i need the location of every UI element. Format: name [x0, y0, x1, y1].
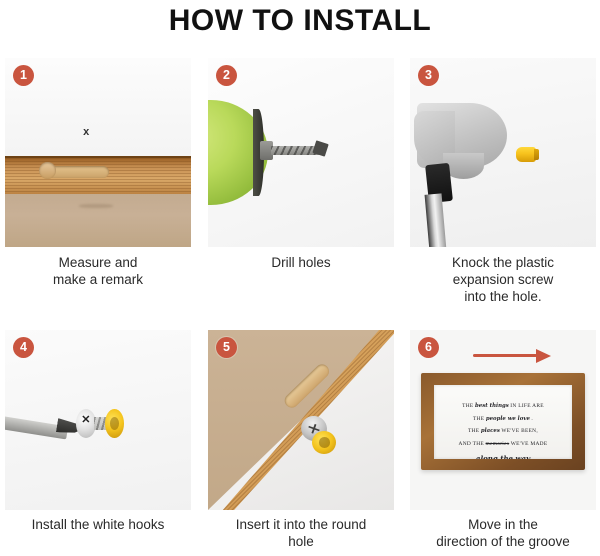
step-badge-5: 5: [216, 337, 237, 358]
step-caption-2: Drill holes: [208, 254, 394, 271]
caption-line: Drill holes: [208, 254, 394, 271]
page-title: HOW TO INSTALL: [0, 4, 600, 38]
sign-line-5: along the way: [434, 454, 571, 459]
keyhole-groove: [46, 166, 109, 178]
caption-line: into the hole.: [410, 288, 596, 305]
step-image-1: 1 x: [5, 58, 191, 247]
step-cell-6: 6 THE best things IN LIFE ARE THE: [410, 330, 596, 530]
step-caption-1: Measure and make a remark: [5, 254, 191, 288]
step-cell-3: 3 Knock the plastic expansion screw into…: [410, 58, 596, 288]
caption-line: hole: [208, 533, 394, 550]
step-image-2: 2: [208, 58, 394, 247]
direction-arrow-icon: [473, 348, 551, 362]
step-image-5: 5: [208, 330, 394, 510]
caption-line: Move in the: [410, 516, 596, 533]
step-cell-4: 4 ✕ Install the white hooks: [5, 330, 191, 530]
sign-text: best things: [475, 403, 509, 409]
arrow-line: [473, 354, 537, 357]
sign-text: along the way: [476, 454, 530, 459]
step-badge-4: 4: [13, 337, 34, 358]
cardboard-backing: [5, 194, 191, 247]
caption-line: Measure and: [5, 254, 191, 271]
sign-face: THE best things IN LIFE ARE THE people w…: [434, 385, 571, 459]
arrow-head: [536, 349, 551, 363]
sign-text: AND THE: [459, 441, 485, 447]
caption-line: expansion screw: [410, 271, 596, 288]
sign-line-2: THE people we love .: [434, 416, 571, 422]
how-to-install-infographic: HOW TO INSTALL 1 x Measure and make a re…: [0, 0, 600, 556]
phillips-cross-icon: ✕: [80, 416, 91, 432]
steps-grid: 1 x Measure and make a remark 2: [0, 58, 600, 528]
caption-line: Insert it into the round: [208, 516, 394, 533]
plastic-expansion-anchor-icon: [516, 147, 536, 162]
sign-text: people we love: [486, 416, 530, 422]
caption-line: make a remark: [5, 271, 191, 288]
caption-line: Install the white hooks: [5, 516, 191, 533]
step-caption-4: Install the white hooks: [5, 516, 191, 533]
step-cell-1: 1 x Measure and make a remark: [5, 58, 191, 288]
step-badge-6: 6: [418, 337, 439, 358]
step-caption-5: Insert it into the round hole: [208, 516, 394, 550]
sign-text: THE: [473, 416, 484, 422]
step-caption-6: Move in the direction of the groove: [410, 516, 596, 550]
sign-text: .: [531, 416, 533, 422]
sign-text: THE: [468, 428, 479, 434]
step-cell-2: 2 Drill holes: [208, 58, 394, 288]
sign-line-1: THE best things IN LIFE ARE: [434, 403, 571, 409]
sign-line-3: THE places WE'VE BEEN,: [434, 428, 571, 434]
step-image-6: 6 THE best things IN LIFE ARE THE: [410, 330, 596, 510]
step-caption-3: Knock the plastic expansion screw into t…: [410, 254, 596, 305]
sign-text: IN LIFE ARE: [510, 403, 544, 409]
caption-line: direction of the groove: [410, 533, 596, 550]
step-image-3: 3: [410, 58, 596, 247]
step-cell-5: 5 Insert it into the round hole: [208, 330, 394, 530]
step-badge-3: 3: [418, 65, 439, 86]
step-badge-1: 1: [13, 65, 34, 86]
sign-text: WE'VE MADE: [511, 441, 548, 447]
sign-line-4: AND THE memories WE'VE MADE: [434, 441, 571, 447]
sign-text-struck: memories: [486, 441, 510, 447]
pencil-x-mark: x: [83, 126, 89, 138]
sign-text: THE: [462, 403, 473, 409]
yellow-anchor-icon: [105, 409, 124, 438]
step-badge-2: 2: [216, 65, 237, 86]
sign-text: places: [481, 428, 500, 434]
step-image-4: 4 ✕: [5, 330, 191, 510]
sign-text: WE'VE BEEN,: [501, 428, 538, 434]
caption-line: Knock the plastic: [410, 254, 596, 271]
wooden-picture-frame: THE best things IN LIFE ARE THE people w…: [421, 373, 585, 470]
